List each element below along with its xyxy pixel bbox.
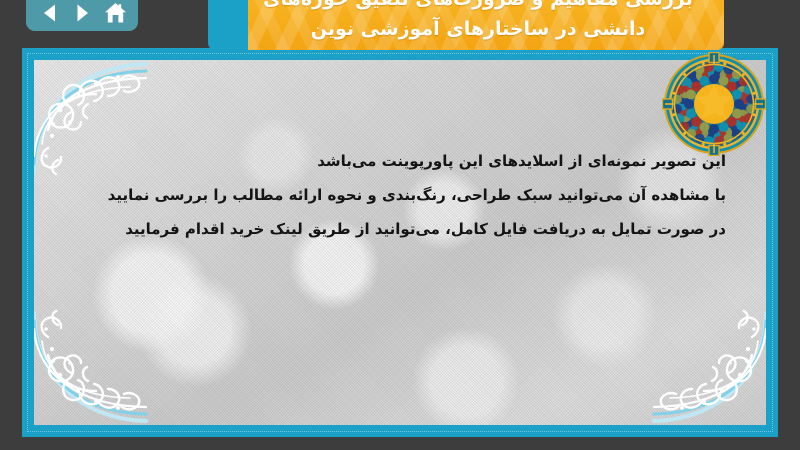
title-line-1: بررسی مفاهیم و ضرورت‌های تلفیق حوزه‌های — [263, 0, 693, 14]
body-line-2: با مشاهده آن می‌توانید سبک طراحی، رنگ‌بن… — [50, 178, 726, 212]
body-line-3: در صورت تمایل به دریافت فایل کامل، می‌تو… — [50, 212, 726, 246]
home-button[interactable] — [101, 0, 129, 26]
triangle-left-icon — [40, 3, 59, 23]
body-line-1: این تصویر نمونه‌ای از اسلایدهای این پاور… — [50, 144, 726, 178]
slide-title: بررسی مفاهیم و ضرورت‌های تلفیق حوزه‌های … — [254, 0, 702, 50]
home-icon — [104, 2, 127, 24]
slide-title-banner: بررسی مفاهیم و ضرورت‌های تلفیق حوزه‌های … — [208, 0, 724, 50]
presentation-viewer: این تصویر نمونه‌ای از اسلایدهای این پاور… — [0, 0, 800, 450]
title-line-2: دانشی در ساختارهای آموزشی نوین — [311, 14, 645, 44]
back-button[interactable] — [35, 0, 63, 26]
slide-frame: این تصویر نمونه‌ای از اسلایدهای این پاور… — [22, 48, 778, 437]
triangle-right-icon — [73, 3, 92, 23]
forward-button[interactable] — [68, 0, 96, 26]
navigation-toolbar — [26, 0, 138, 31]
slide-body-text: این تصویر نمونه‌ای از اسلایدهای این پاور… — [50, 144, 726, 246]
